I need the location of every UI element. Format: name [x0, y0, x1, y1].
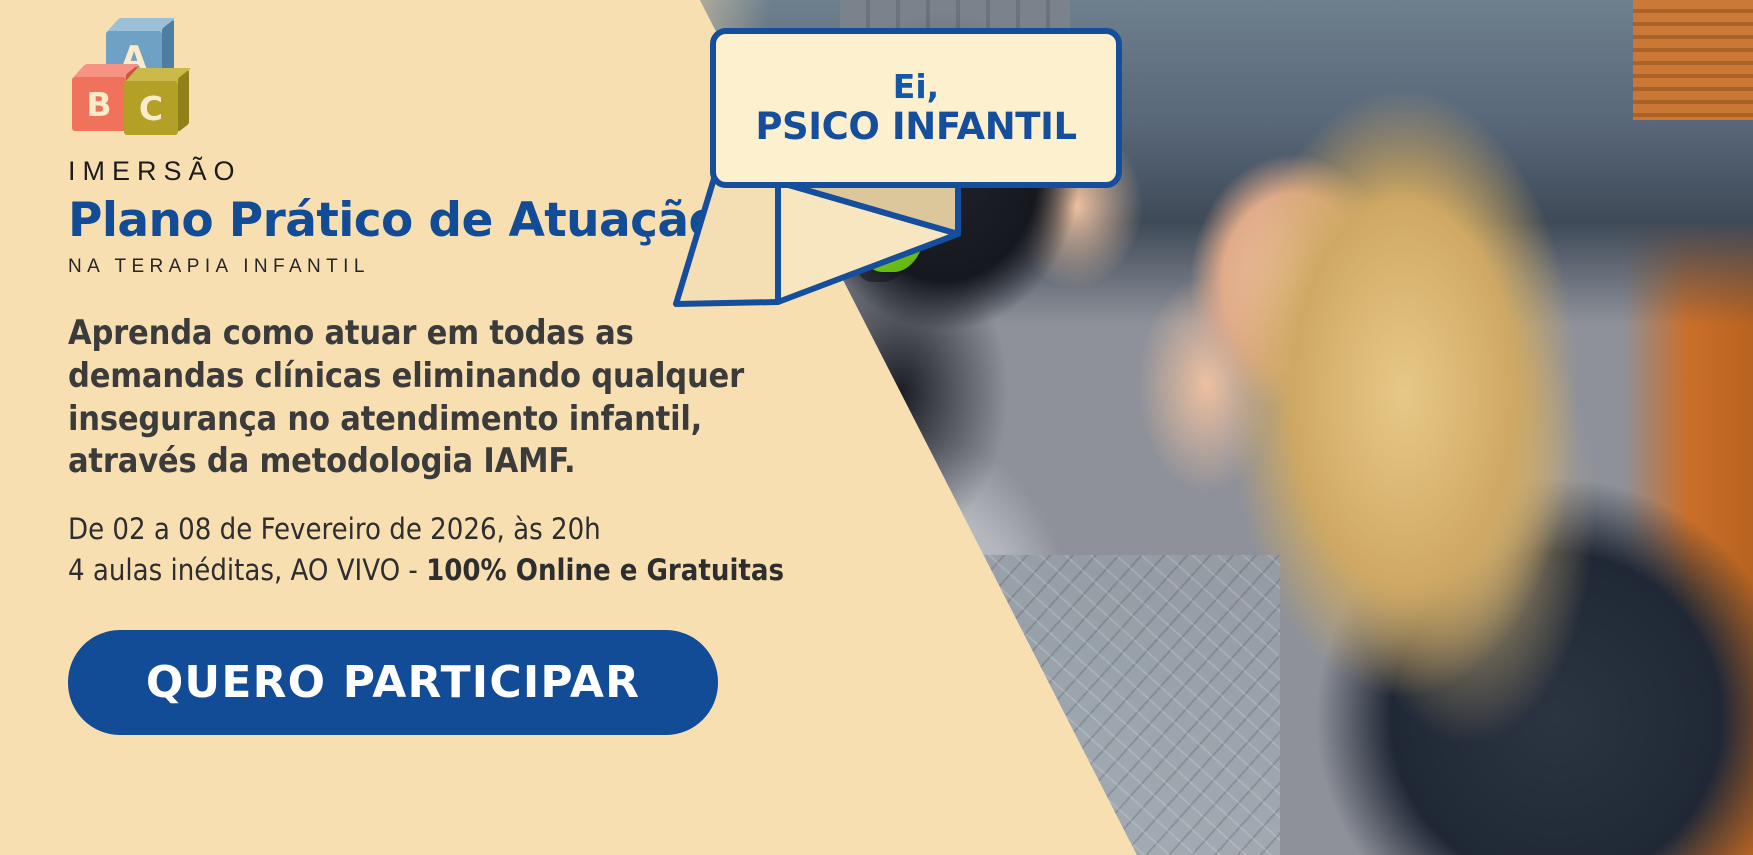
- promo-banner: Ei, PSICO INFANTIL A B C IMERSÃO P: [0, 0, 1753, 855]
- block-b-letter: B: [72, 77, 126, 131]
- block-a-side-face: [162, 19, 174, 84]
- window-blinds-detail: [1633, 0, 1753, 120]
- schedule-detail-line: 4 aulas inéditas, AO VIVO - 100% Online …: [68, 550, 898, 591]
- bubble-line-2: PSICO INFANTIL: [755, 106, 1076, 147]
- logo-block-c: C: [124, 81, 178, 135]
- schedule-block: De 02 a 08 de Fevereiro de 2026, às 20h …: [68, 509, 898, 591]
- speech-bubble: Ei, PSICO INFANTIL: [710, 28, 1122, 188]
- quero-participar-button[interactable]: QUERO PARTICIPAR: [68, 630, 718, 735]
- logo-block-b: B: [72, 77, 126, 131]
- bubble-line-1: Ei,: [893, 69, 939, 106]
- schedule-detail-prefix: 4 aulas inéditas, AO VIVO -: [68, 553, 426, 587]
- schedule-date-line: De 02 a 08 de Fevereiro de 2026, às 20h: [68, 509, 898, 550]
- schedule-detail-highlight: 100% Online e Gratuitas: [426, 553, 784, 587]
- abc-blocks-logo: A B C: [68, 25, 190, 130]
- block-c-side-face: [178, 70, 189, 133]
- block-a-top-face: [107, 18, 176, 32]
- headline-text: Aprenda como atuar em todas as demandas …: [68, 312, 808, 483]
- speech-bubble-tail-icon: [628, 172, 1138, 312]
- block-c-letter: C: [124, 81, 178, 135]
